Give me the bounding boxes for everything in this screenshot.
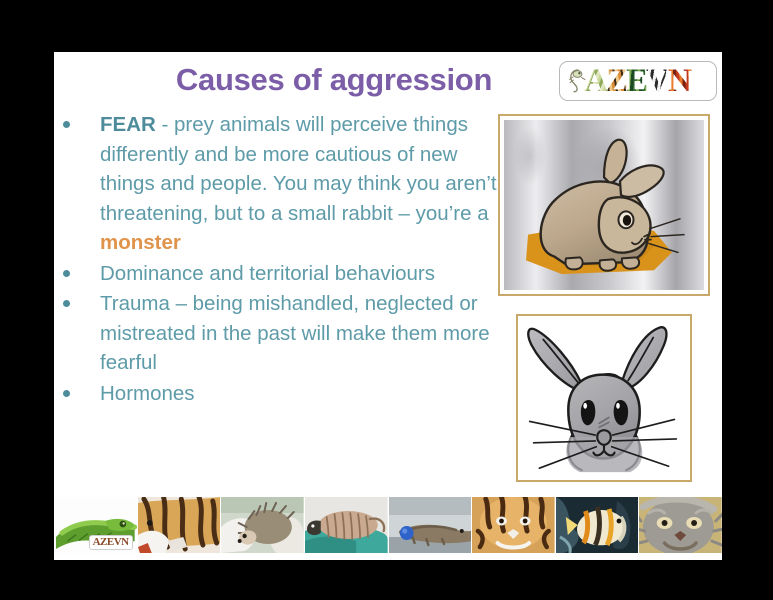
filmstrip-cell-lizard — [389, 497, 473, 553]
keyword-monster: monster — [100, 231, 181, 254]
bullet-text-trauma: Trauma – being mishandled, neglected or … — [100, 289, 504, 378]
bullet-dot-icon — [63, 270, 70, 277]
image-rabbit-crouching — [498, 114, 710, 296]
gecko-icon — [567, 68, 589, 94]
logo-letter-n: N — [668, 65, 692, 98]
bullet-dot-icon — [63, 390, 70, 397]
bullet-fear-body: - prey animals will perceive things diff… — [100, 113, 497, 225]
image-rabbit-face-canvas — [522, 320, 686, 476]
bullet-list: FEAR - prey animals will perceive things… — [54, 110, 504, 409]
image-rabbit-crouching-canvas — [504, 120, 704, 290]
bullet-dot-icon — [63, 121, 70, 128]
logo-letter-z: Z — [606, 65, 628, 98]
bullet-text-fear: FEAR - prey animals will perceive things… — [100, 110, 504, 258]
azevn-logo: A Z E V N — [559, 61, 717, 101]
page-title: Causes of aggression — [114, 62, 554, 98]
presentation-slide: Causes of aggression A Z E V N FEAR - pr… — [54, 52, 722, 560]
filmstrip-cell-pallas-cat — [639, 497, 722, 553]
filmstrip-cell-hedgehog — [221, 497, 305, 553]
list-item: FEAR - prey animals will perceive things… — [54, 110, 504, 258]
filmstrip-cell-tiger-face — [472, 497, 556, 553]
bullet-dot-icon — [63, 300, 70, 307]
filmstrip-azevn-tag: AZEVN — [89, 535, 133, 550]
logo-letter-v: V — [646, 65, 670, 98]
filmstrip-cell-snake: AZEVN — [54, 497, 138, 553]
filmstrip-cell-butterflyfish — [556, 497, 640, 553]
list-item: Hormones — [54, 379, 504, 409]
list-item: Dominance and territorial behaviours — [54, 259, 504, 289]
logo-letter-e: E — [626, 65, 648, 98]
keyword-fear: FEAR — [100, 113, 156, 136]
list-item: Trauma – being mishandled, neglected or … — [54, 289, 504, 378]
filmstrip-cell-armadillo — [305, 497, 389, 553]
screenshot-canvas: Causes of aggression A Z E V N FEAR - pr… — [0, 0, 773, 600]
image-rabbit-face — [516, 314, 692, 482]
bullet-text-dominance: Dominance and territorial behaviours — [100, 259, 504, 289]
filmstrip-cell-tiger-surgery — [138, 497, 222, 553]
bullet-text-hormones: Hormones — [100, 379, 504, 409]
photo-filmstrip: AZEVN — [54, 497, 722, 553]
